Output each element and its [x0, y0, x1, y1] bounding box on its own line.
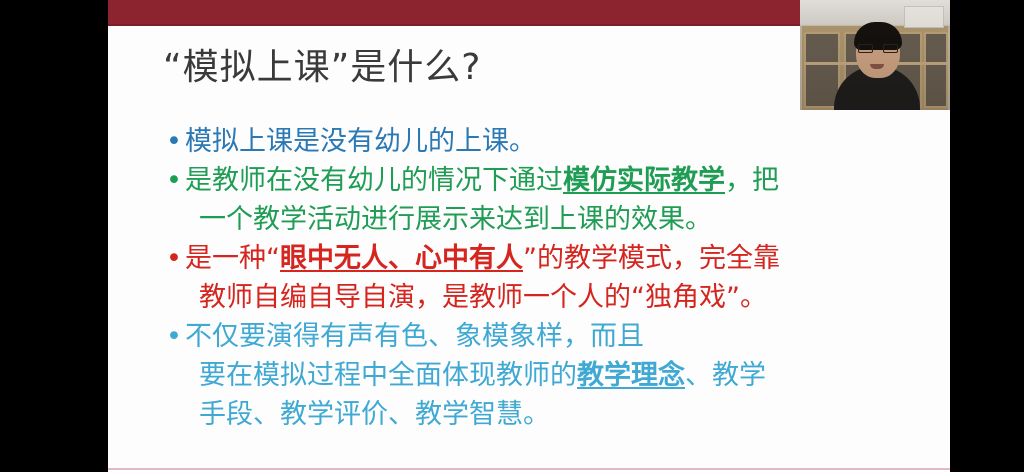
bullet-text: ，把: [725, 165, 779, 196]
bullet-marker-icon: •: [166, 122, 182, 161]
bullet-item: •是一种“眼中无人、心中有人”的教学模式，完全靠教师自编自导自演，是教师一个人的…: [163, 239, 933, 317]
bullet-line: 是教师在没有幼儿的情况下通过模仿实际教学，把: [185, 161, 933, 200]
video-vignette: [800, 0, 950, 110]
bullet-line: 模拟上课是没有幼儿的上课。: [185, 122, 933, 161]
bullet-item: •是教师在没有幼儿的情况下通过模仿实际教学，把一个教学活动进行展示来达到上课的效…: [163, 161, 933, 239]
bullet-text: ”的教学模式，完全靠: [523, 243, 780, 274]
bullet-marker-icon: •: [166, 161, 182, 200]
bullet-text: 一个教学活动进行展示来达到上课的效果。: [199, 204, 712, 235]
bullet-line: 不仅要演得有声有色、象模象样，而且: [185, 317, 933, 356]
bullet-line: 一个教学活动进行展示来达到上课的效果。: [185, 200, 933, 239]
bullet-text: 模拟上课是没有幼儿的上课。: [185, 126, 536, 157]
bullet-marker-icon: •: [166, 239, 182, 278]
emphasized-text: 模仿实际教学: [563, 165, 725, 196]
emphasized-text: 眼中无人、心中有人: [280, 243, 523, 274]
letterbox-right: [950, 0, 1024, 472]
emphasized-text: 教学理念: [577, 360, 685, 391]
bullet-text: 是教师在没有幼儿的情况下通过: [185, 165, 563, 196]
bullet-line: 是一种“眼中无人、心中有人”的教学模式，完全靠: [185, 239, 933, 278]
bullet-text: 教师自编自导自演，是教师一个人的“独角戏”。: [199, 282, 767, 313]
bullet-marker-icon: •: [166, 317, 182, 356]
bullet-text: 手段、教学评价、教学智慧。: [199, 399, 550, 430]
bullet-line: 要在模拟过程中全面体现教师的教学理念、教学: [185, 356, 933, 395]
bullet-list: •模拟上课是没有幼儿的上课。•是教师在没有幼儿的情况下通过模仿实际教学，把一个教…: [163, 122, 933, 434]
bullet-line: 教师自编自导自演，是教师一个人的“独角戏”。: [185, 278, 933, 317]
bullet-item: •不仅要演得有声有色、象模象样，而且要在模拟过程中全面体现教师的教学理念、教学手…: [163, 317, 933, 434]
slide-bottom-rule: [108, 468, 950, 470]
slide-title: “模拟上课”是什么?: [163, 38, 481, 90]
bullet-line: 手段、教学评价、教学智慧。: [185, 395, 933, 434]
bullet-item: •模拟上课是没有幼儿的上课。: [163, 122, 933, 161]
screen-capture: Zhe Jia “模拟上课”是什么? •模拟上课是没有幼儿的上课。•是教师在没有…: [0, 0, 1024, 472]
bullet-text: 要在模拟过程中全面体现教师的: [199, 360, 577, 391]
participant-video-overlay[interactable]: [800, 0, 950, 110]
bullet-text: 是一种“: [185, 243, 280, 274]
bullet-text: 不仅要演得有声有色、象模象样，而且: [185, 321, 644, 352]
letterbox-left: [0, 0, 108, 472]
bullet-text: 、教学: [685, 360, 766, 391]
